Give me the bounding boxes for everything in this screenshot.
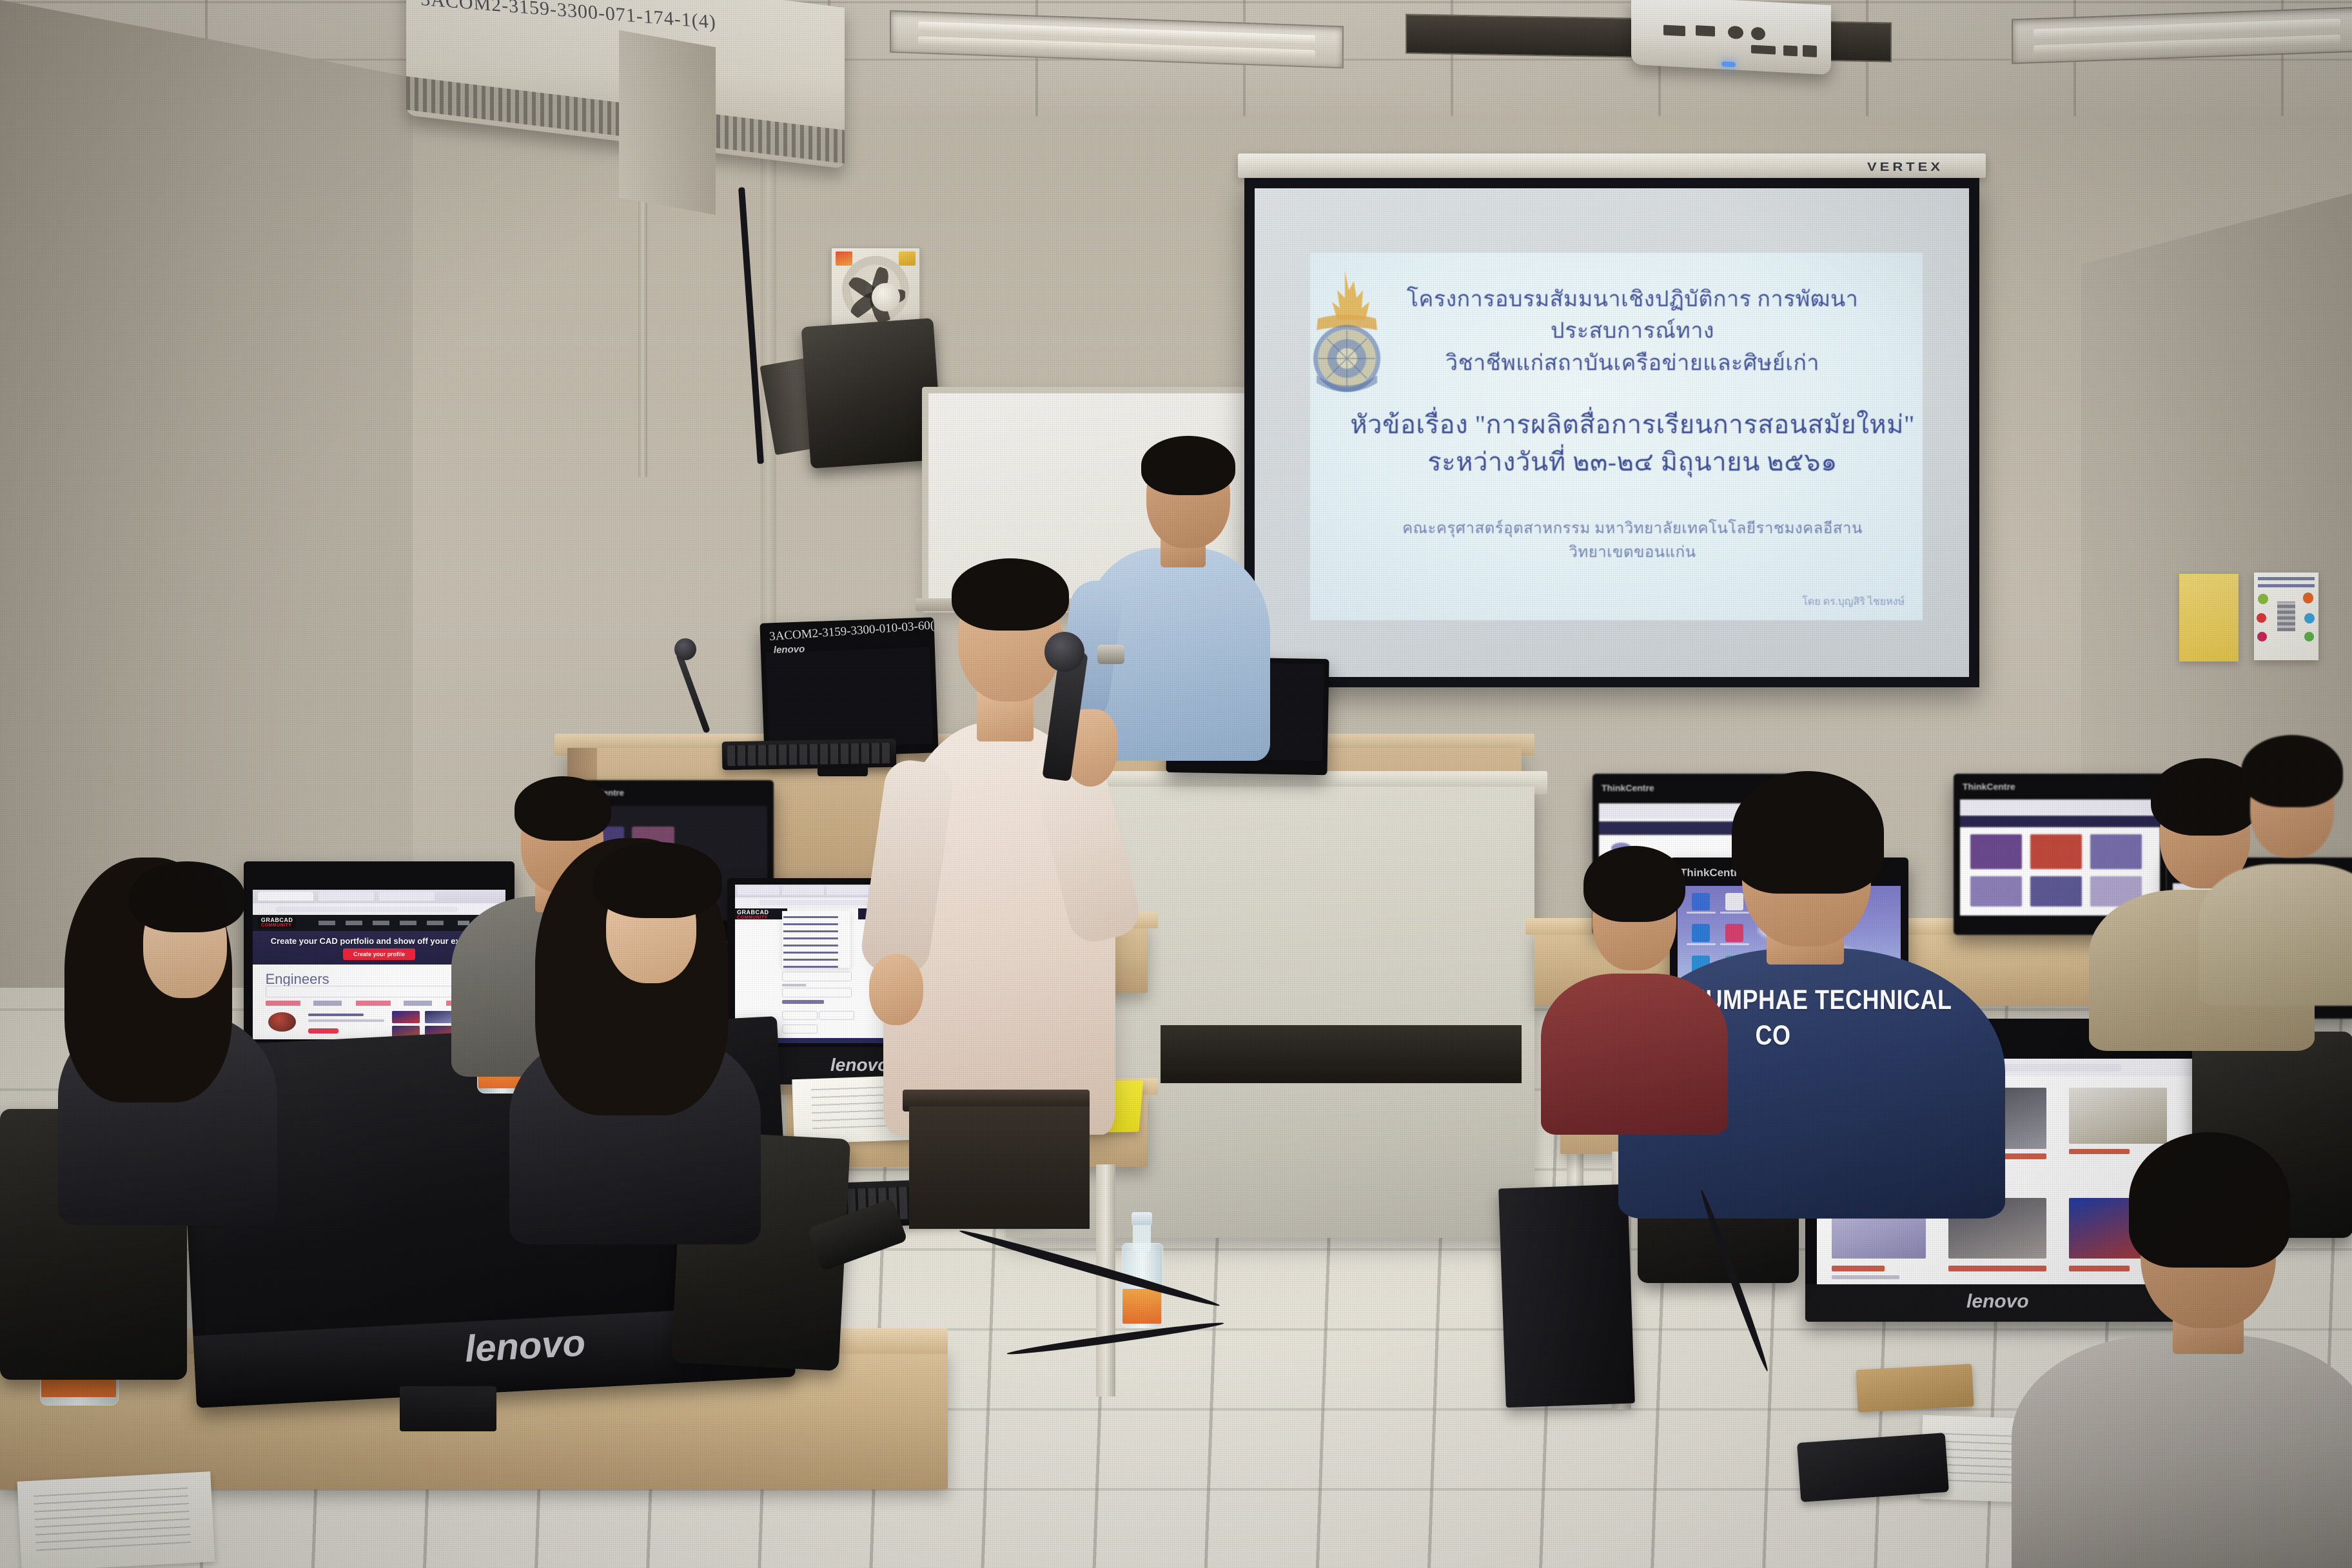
- poster-diagram: [2277, 602, 2295, 631]
- phone-input[interactable]: [782, 988, 852, 997]
- person-student-mid-left-woman: [509, 838, 767, 1238]
- engineer-meta: [308, 1019, 384, 1022]
- slide-line-3: หัวข้อเรื่อง "การผลิตสื่อการเรียนการสอนส…: [1349, 406, 1916, 444]
- slide-line-2: วิชาชีพแก่สถาบันเครือข่ายและศิษย์เก่า: [1349, 348, 1916, 379]
- cad-author: [1832, 1275, 1899, 1280]
- job-level-select[interactable]: [782, 1024, 818, 1034]
- student-torso: [2199, 864, 2352, 1006]
- slide-topic: หัวข้อเรื่อง "การผลิตสื่อการเรียนการสอนส…: [1349, 406, 1916, 481]
- student-torso: [2012, 1335, 2352, 1568]
- fan-sticker: [899, 251, 916, 266]
- slide-line-5: คณะครุศาสตร์อุตสาหกรรม มหาวิทยาลัยเทคโนโ…: [1349, 517, 1916, 541]
- create-profile-button[interactable]: Create your profile: [343, 948, 415, 960]
- slide-credit: โดย ดร.บุญสิริ ไชยหงษ์: [1802, 594, 1905, 610]
- cad-thumbnail[interactable]: [425, 1011, 453, 1023]
- screen-brand-label: VERTEX: [1867, 160, 1943, 174]
- paper-front-left[interactable]: [17, 1471, 215, 1568]
- person-main-presenter: [857, 516, 1167, 1225]
- phone-on-desk[interactable]: [1797, 1433, 1949, 1502]
- fan-sticker: [836, 251, 852, 266]
- wall-poster: [2254, 573, 2318, 660]
- wristwatch: [1097, 645, 1124, 664]
- poster-heading: [2258, 577, 2315, 587]
- person-student-front-right: [2012, 1122, 2352, 1568]
- company-size-select[interactable]: [819, 1011, 854, 1021]
- presenter-trousers: [909, 1106, 1090, 1229]
- person-student-far-right-back: [2199, 722, 2352, 999]
- podium-microphone-head: [674, 638, 696, 660]
- slide-line-6: วิทยาเขตขอนแก่น: [1349, 541, 1916, 565]
- slide-organization: คณะครุศาสตร์อุตสาหกรรม มหาวิทยาลัยเทคโนโ…: [1349, 517, 1916, 565]
- projector-screen-housing: VERTEX: [1238, 153, 1986, 178]
- student-hair: [1732, 771, 1884, 894]
- wall-paper-note: [2179, 574, 2239, 661]
- nav-links[interactable]: [318, 921, 450, 926]
- engineer-name[interactable]: [308, 1014, 364, 1017]
- slide-heading: โครงการอบรมสัมมนาเชิงปฏิบัติการ การพัฒนา…: [1349, 284, 1916, 379]
- ac-asset-tag: 3ACOM2-3159-3300-071-174-1(4): [420, 0, 678, 30]
- student-hair: [514, 776, 611, 841]
- presenter-hair: [952, 558, 1069, 631]
- fan-blades: [842, 256, 909, 323]
- lenovo-logo: lenovo: [774, 643, 805, 656]
- phone-label: [782, 984, 806, 986]
- browser-tab[interactable]: [379, 892, 435, 901]
- wallet-on-desk[interactable]: [1856, 1364, 1974, 1412]
- ceiling-projector: [1631, 0, 1831, 75]
- browser-tab[interactable]: [318, 892, 374, 901]
- browser-tab[interactable]: [782, 886, 824, 895]
- slide-line-4: ระหว่างวันที่ ๒๓-๒๔ มิถุนายน ๒๕๖๑: [1349, 444, 1916, 481]
- cad-thumbnail[interactable]: [392, 1011, 420, 1023]
- engineers-filter-chips[interactable]: [266, 1001, 483, 1006]
- microphone-head: [1044, 632, 1084, 672]
- country-dropdown-list[interactable]: [782, 911, 850, 968]
- water-bottle-3[interactable]: [1122, 1212, 1162, 1328]
- country-select[interactable]: [782, 972, 852, 981]
- projected-slide: โครงการอบรมสัมมนาเชิงปฏิบัติการ การพัฒนา…: [1310, 253, 1923, 620]
- classroom-photo-scene: 3ACOM2-3159-3300-071-174-1(4) VERTEX: [0, 0, 2352, 1568]
- person-student-maroon: [1541, 825, 1734, 1135]
- company-details-heading: [782, 1000, 824, 1004]
- monitor-stand: [400, 1386, 496, 1431]
- student-hair: [2129, 1132, 2290, 1268]
- student-torso: [1541, 974, 1728, 1135]
- lenovo-logo: lenovo: [464, 1321, 586, 1371]
- company-input[interactable]: [782, 1011, 818, 1021]
- url-input[interactable]: [275, 906, 457, 912]
- person-student-front-left-woman: [52, 851, 284, 1212]
- cad-title[interactable]: [1832, 1266, 1885, 1271]
- teacher-desk-shelf: [1161, 1025, 1522, 1083]
- projector-power-led: [1721, 61, 1736, 67]
- follow-button[interactable]: [308, 1028, 338, 1034]
- presenter-left-hand: [869, 954, 923, 1025]
- ac-wall-mount: [619, 30, 716, 215]
- student-hair: [2241, 735, 2343, 807]
- slide-line-1: โครงการอบรมสัมมนาเชิงปฏิบัติการ การพัฒนา…: [1349, 284, 1916, 348]
- student-hair: [1583, 846, 1685, 922]
